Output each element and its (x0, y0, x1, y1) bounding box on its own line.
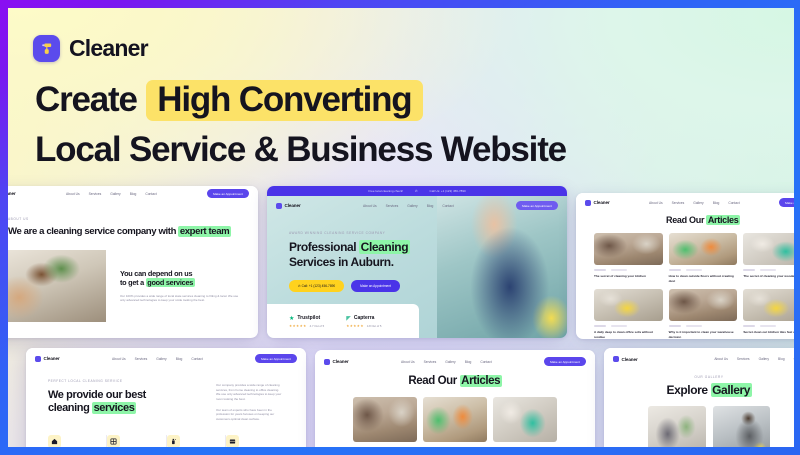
about-photo (8, 250, 106, 322)
services-paragraph-2: Our team of experts who have been in the… (216, 408, 284, 422)
gallery-thumbnail[interactable] (648, 406, 706, 447)
brand-name: Cleaner (69, 35, 148, 62)
mini-cta-button[interactable]: Make an Appointment (779, 198, 794, 207)
services-heading-highlight: services (92, 402, 136, 414)
service-card-house[interactable]: House Cleaning (48, 435, 107, 447)
article-meta (669, 269, 738, 271)
article-meta (594, 325, 663, 327)
section-title-text: Explore (666, 383, 710, 397)
service-cards: House Cleaning Window Cleaning (26, 435, 306, 447)
hero-heading-l1: Professional (289, 240, 359, 254)
article-card[interactable]: The secret of cleaning your wooden furni… (743, 233, 794, 283)
screenshot-articles-page[interactable]: Cleaner About Us Services Gallery Blog C… (576, 193, 794, 339)
nav-link-about[interactable]: About Us (66, 192, 80, 196)
article-meta (594, 269, 663, 271)
mini-nav-links: About Us Services Gallery Blog Contact (714, 357, 794, 361)
mini-cta-button[interactable]: Make an Appointment (207, 189, 249, 198)
mini-nav-links: About Us Services Gallery Blog Contact (66, 192, 157, 196)
about-subheading-l1: You can depend on us (120, 269, 192, 278)
services-paragraph-1: Our company provides a wide range of cle… (216, 383, 284, 402)
service-card-window[interactable]: Window Cleaning (107, 435, 166, 447)
paint-roller-icon (35, 356, 41, 362)
mini-brand: Cleaner (585, 200, 610, 206)
section-title-highlight: Gallery (711, 383, 752, 397)
blog-thumb-grid (315, 387, 595, 442)
trust-stars: ★★★★★ (289, 324, 307, 328)
article-card[interactable]: The secret of cleaning your kitchen (594, 233, 663, 283)
appointment-button[interactable]: Make an Appointment (351, 280, 400, 292)
announcement-phone[interactable]: Call Us: +1 (123) 456-7890 (430, 189, 466, 193)
screenshot-home-hero[interactable]: Free local cleaning check! ✆ Call Us: +1… (267, 186, 567, 338)
nav-link-blog[interactable]: Blog (465, 360, 472, 364)
mini-navbar: Cleaner About Us Services Gallery Blog C… (267, 196, 567, 211)
article-thumbnail (669, 289, 738, 321)
screenshot-about-page[interactable]: Cleaner About Us Services Gallery Blog C… (8, 186, 258, 338)
nav-link-gallery[interactable]: Gallery (110, 192, 120, 196)
page-title: Create High Converting Local Service & B… (35, 78, 775, 173)
gallery-thumbnail[interactable] (713, 406, 771, 447)
announcement-bar: Free local cleaning check! ✆ Call Us: +1… (267, 186, 567, 196)
services-eyebrow: Perfect Local Cleaning Service (48, 379, 194, 383)
article-title: The secret of cleaning your kitchen (594, 274, 663, 279)
mini-brand: Cleaner (613, 356, 638, 362)
nav-link-services[interactable]: Services (89, 192, 102, 196)
mini-navbar: Cleaner About Us Services Gallery Blog C… (8, 186, 258, 201)
nav-link-about[interactable]: About Us (112, 357, 126, 361)
about-body: Our 100% provides a wide range of local … (120, 294, 242, 303)
nav-link-blog[interactable]: Blog (427, 204, 434, 208)
article-thumbnail (594, 289, 663, 321)
services-intro: Perfect Local Cleaning Service We provid… (26, 363, 306, 421)
announcement-text: Free local cleaning check! (368, 189, 403, 193)
trust-count: 4.7 Out of 5 (310, 324, 325, 328)
nav-link-gallery[interactable]: Gallery (445, 360, 455, 364)
section-title-highlight: Articles (706, 215, 740, 225)
hero-heading-highlight: expert team (178, 226, 230, 237)
section-title: Read Our Articles (315, 375, 595, 387)
nav-link-gallery[interactable]: Gallery (759, 357, 769, 361)
floor-icon (226, 435, 239, 447)
article-meta (669, 325, 738, 327)
mini-navbar: Cleaner About Us Services Gallery Blog C… (604, 348, 794, 363)
nav-link-contact[interactable]: Contact (480, 360, 491, 364)
hero-heading: Professional Cleaning Services in Auburn… (289, 240, 449, 269)
mini-navbar: Cleaner About Us Services Gallery Blog C… (26, 348, 306, 363)
promo-frame: Cleaner Create High Converting Local Ser… (0, 0, 800, 455)
trust-stars: ★★★★★ (346, 324, 364, 328)
mini-cta-button[interactable]: Make an Appointment (544, 357, 586, 366)
services-heading: We provide our best cleaning services (48, 389, 194, 416)
hero-photo (437, 196, 567, 338)
nav-link-services[interactable]: Services (135, 357, 148, 361)
call-button[interactable]: ✆ Call: +1 (123) 456-7890 (289, 280, 344, 292)
nav-link-about[interactable]: About Us (401, 360, 415, 364)
blog-thumbnail[interactable] (423, 397, 487, 442)
article-title: The secret of cleaning your wooden furni… (743, 274, 794, 279)
hero-buttons: ✆ Call: +1 (123) 456-7890 Make an Appoin… (289, 280, 449, 292)
about-subheading-l2: to get a (120, 278, 146, 287)
section-title-text: Read Our (666, 215, 706, 225)
mini-cta-button[interactable]: Make an Appointment (516, 201, 558, 210)
service-card-floor[interactable]: Floor Cleaning (226, 435, 284, 447)
mini-brand-name: Cleaner (622, 357, 638, 362)
article-card[interactable]: Why is it important to clean your wareho… (669, 289, 738, 339)
trust-badge-trustpilot: ★ Trustpilot ★★★★★ 4.7 Out of 5 (289, 315, 324, 328)
hero-copy: Award Winning Cleaning Service Company P… (289, 231, 449, 292)
article-thumbnail (743, 233, 794, 265)
screenshot-blog-page[interactable]: Cleaner About Us Services Gallery Blog C… (315, 350, 595, 447)
paint-roller-icon (613, 356, 619, 362)
nav-link-services[interactable]: Services (386, 204, 399, 208)
article-meta (743, 325, 794, 327)
mini-navbar: Cleaner About Us Services Gallery Blog C… (576, 193, 794, 208)
article-title: Why is it important to clean your wareho… (669, 330, 738, 339)
nav-link-blog[interactable]: Blog (713, 201, 720, 205)
mini-brand: Cleaner (8, 191, 16, 197)
screenshot-services-page[interactable]: Cleaner About Us Services Gallery Blog C… (26, 348, 306, 447)
mini-nav-links: About Us Services Gallery Blog Contact (649, 201, 740, 205)
hero-heading-highlight: Cleaning (359, 240, 409, 254)
mini-cta-button[interactable]: Make an Appointment (255, 354, 297, 363)
nav-link-contact[interactable]: Contact (728, 201, 739, 205)
section-title: Read Our Articles (576, 215, 794, 225)
gallery-grid (604, 397, 794, 447)
phone-icon: ✆ (415, 189, 418, 193)
about-subheading-highlight: good services (146, 278, 195, 287)
trust-name: Trustpilot (297, 315, 320, 321)
mini-nav-links: About Us Services Gallery Blog Contact (401, 360, 492, 364)
nav-link-gallery[interactable]: Gallery (693, 201, 703, 205)
mini-navbar: Cleaner About Us Services Gallery Blog C… (315, 350, 595, 365)
nav-link-about[interactable]: About Us (714, 357, 728, 361)
mini-brand-name: Cleaner (44, 356, 60, 361)
mini-brand-name: Cleaner (8, 191, 16, 196)
article-thumbnail (743, 289, 794, 321)
mini-brand-name: Cleaner (285, 203, 301, 208)
nav-link-gallery[interactable]: Gallery (156, 357, 166, 361)
mini-brand: Cleaner (35, 356, 60, 362)
headline-line2: Local Service & Business Website (35, 128, 775, 173)
promo-canvas: Cleaner Create High Converting Local Ser… (8, 8, 794, 447)
section-title-text: Read Our (408, 375, 459, 387)
brand-lockup: Cleaner (33, 35, 148, 62)
call-button-label: Call: +1 (123) 456-7890 (302, 284, 336, 288)
mini-nav-links: About Us Services Gallery Blog Contact (112, 357, 203, 361)
nav-link-services[interactable]: Services (737, 357, 750, 361)
nav-link-contact[interactable]: Contact (191, 357, 202, 361)
headline-highlight: High Converting (146, 80, 422, 121)
hero-block: About Us We are a cleaning service compa… (8, 201, 258, 238)
section-title: Explore Gallery (604, 383, 794, 397)
services-heading-l2: cleaning (48, 402, 92, 414)
about-split: You can depend on us to get a good servi… (8, 250, 258, 322)
nav-link-contact[interactable]: Contact (442, 204, 453, 208)
paint-roller-icon (33, 35, 60, 62)
mini-brand: Cleaner (324, 359, 349, 365)
service-card-pest[interactable]: Pest Control (167, 435, 226, 447)
nav-link-gallery[interactable]: Gallery (407, 204, 417, 208)
nav-link-about[interactable]: About Us (649, 201, 663, 205)
hero-body: Cleaner About Us Services Gallery Blog C… (267, 196, 567, 338)
nav-link-blog[interactable]: Blog (176, 357, 183, 361)
services-heading-l1: We provide our best (48, 389, 146, 401)
mini-nav-links: About Us Services Gallery Blog Contact (363, 204, 454, 208)
article-title: How to clean outside floors without crea… (669, 274, 738, 283)
article-card[interactable]: A daily deep to clean office sofa withou… (594, 289, 663, 339)
screenshot-gallery-page[interactable]: Cleaner About Us Services Gallery Blog C… (604, 348, 794, 447)
nav-link-contact[interactable]: Contact (145, 192, 156, 196)
hero-heading: We are a cleaning service company with e… (8, 226, 258, 238)
section-title-highlight: Articles (460, 375, 502, 387)
article-card[interactable]: Secret clean out kitchen tiles fast & ea… (743, 289, 794, 339)
house-icon (48, 435, 61, 447)
mini-brand-name: Cleaner (333, 359, 349, 364)
about-subheading: You can depend on us to get a good servi… (120, 269, 242, 288)
trust-badge-capterra: ◤ Capterra ★★★★★ 4.8 Out of 5 (346, 315, 381, 328)
hero-heading-l2: Services in Auburn. (289, 255, 394, 269)
spray-icon (167, 435, 180, 447)
nav-link-blog[interactable]: Blog (778, 357, 785, 361)
mini-brand: Cleaner (276, 203, 301, 209)
nav-link-blog[interactable]: Blog (130, 192, 137, 196)
capterra-icon: ◤ (346, 315, 351, 322)
window-icon (107, 435, 120, 447)
paint-roller-icon (585, 200, 591, 206)
hero-eyebrow: About Us (8, 217, 258, 221)
trust-badges: ★ Trustpilot ★★★★★ 4.7 Out of 5 ◤ Capter… (267, 304, 419, 338)
nav-link-services[interactable]: Services (424, 360, 437, 364)
headline-line1-before: Create (35, 80, 137, 119)
paint-roller-icon (276, 203, 282, 209)
mini-brand-name: Cleaner (594, 200, 610, 205)
hero-eyebrow: Award Winning Cleaning Service Company (289, 231, 449, 235)
article-meta (743, 269, 794, 271)
articles-grid: The secret of cleaning your kitchen How … (576, 225, 794, 339)
trust-name: Capterra (354, 315, 375, 321)
blog-thumbnail[interactable] (353, 397, 417, 442)
services-heading-col: Perfect Local Cleaning Service We provid… (48, 379, 194, 421)
nav-link-about[interactable]: About Us (363, 204, 377, 208)
blog-thumbnail[interactable] (493, 397, 557, 442)
gallery-eyebrow: Our Gallery (604, 375, 794, 379)
services-paragraph-col: Our company provides a wide range of cle… (216, 379, 284, 421)
about-text: You can depend on us to get a good servi… (106, 250, 258, 322)
article-thumbnail (669, 233, 738, 265)
trust-count: 4.8 Out of 5 (367, 324, 382, 328)
article-thumbnail (594, 233, 663, 265)
paint-roller-icon (324, 359, 330, 365)
star-icon: ★ (289, 315, 294, 322)
article-title: A daily deep to clean office sofa withou… (594, 330, 663, 339)
article-card[interactable]: How to clean outside floors without crea… (669, 233, 738, 283)
article-title: Secret clean out kitchen tiles fast & ea… (743, 330, 794, 335)
nav-link-services[interactable]: Services (672, 201, 685, 205)
hero-heading-text: We are a cleaning service company with (8, 226, 178, 237)
